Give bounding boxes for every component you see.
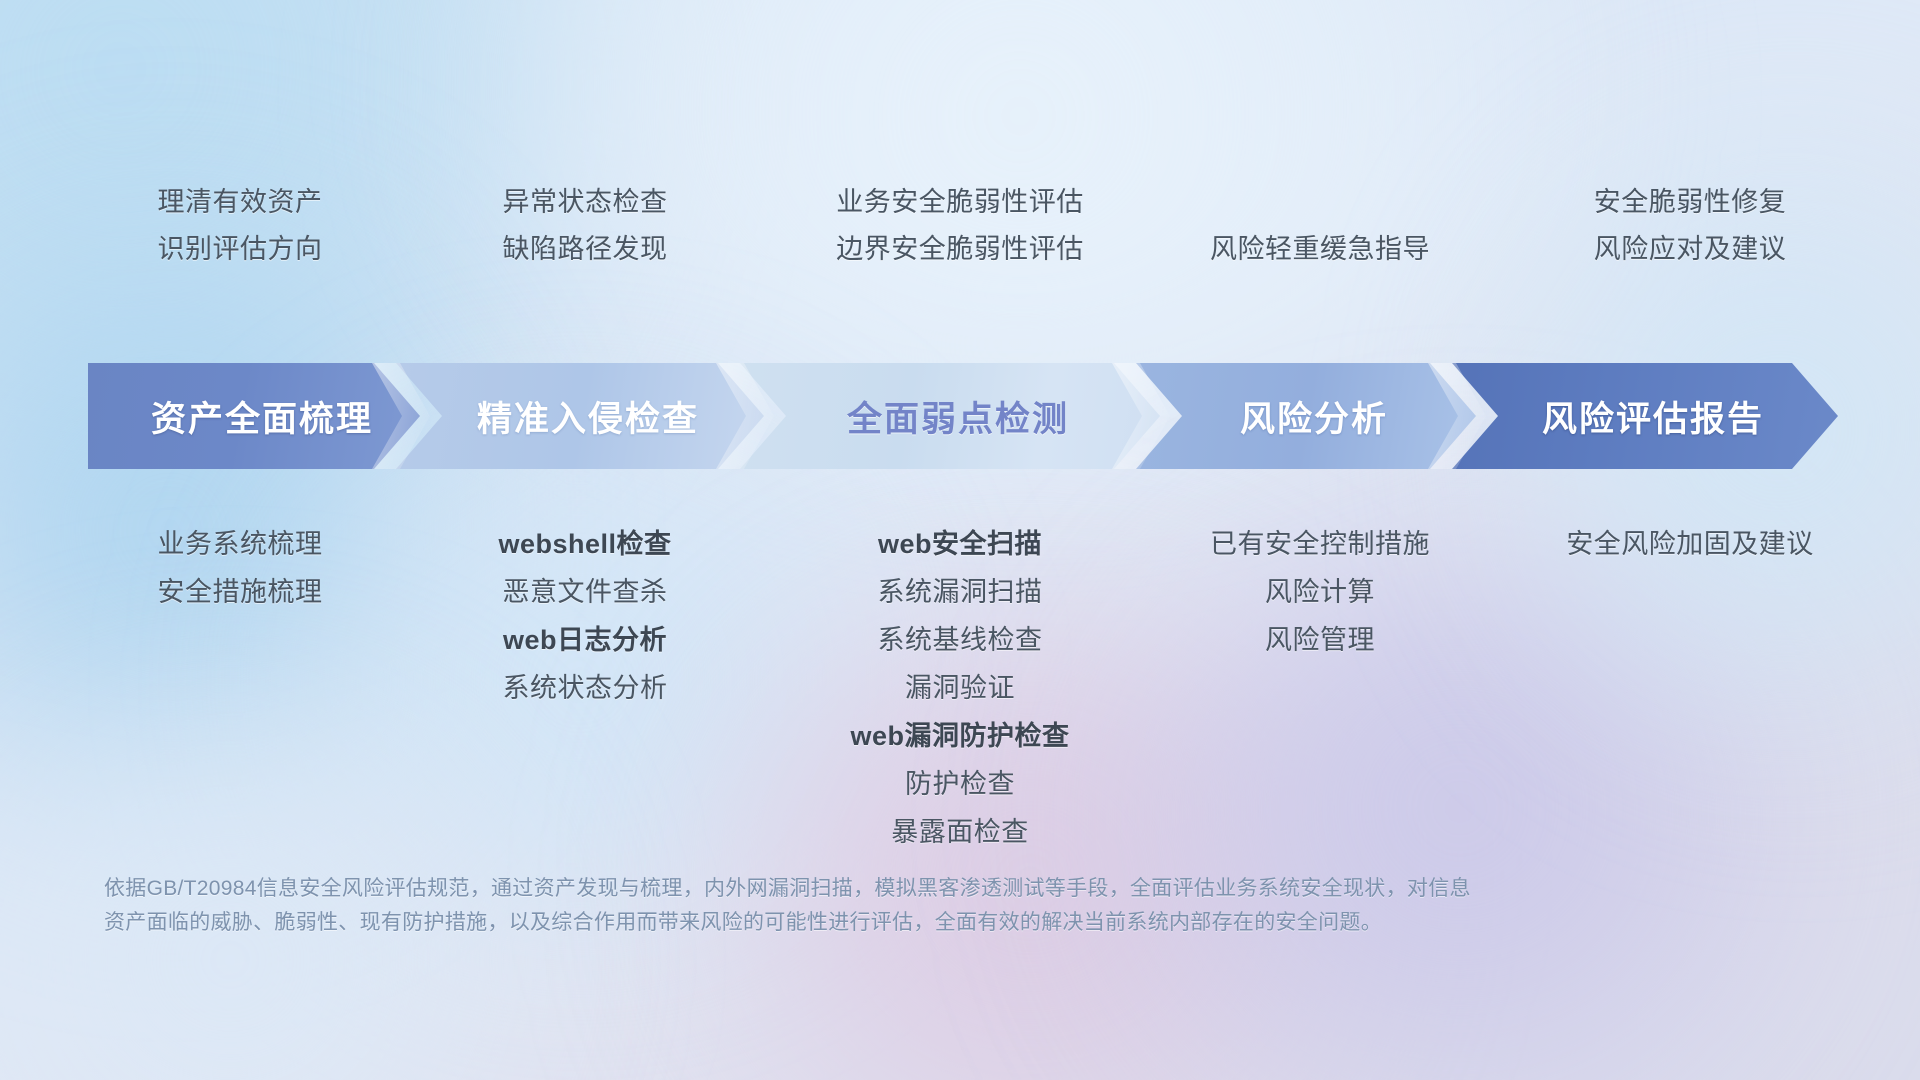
bottom-detail-item: web日志分析 <box>395 616 775 664</box>
bottom-detail-item: webshell检查 <box>395 520 775 568</box>
top-detail-row: 理清有效资产 识别评估方向 异常状态检查 缺陷路径发现 业务安全脆弱性评估 边界… <box>0 0 1920 360</box>
top-detail-item: 识别评估方向 <box>30 226 450 272</box>
bottom-detail-item: web安全扫描 <box>740 520 1180 568</box>
top-detail-item: 异常状态检查 <box>395 179 775 225</box>
bottom-detail-item: 系统状态分析 <box>395 664 775 712</box>
bottom-details-stage-3: web安全扫描 系统漏洞扫描 系统基线检查 漏洞验证 web漏洞防护检查 防护检… <box>740 520 1180 856</box>
top-detail-item: 安全脆弱性修复 <box>1490 179 1890 225</box>
process-arrow-band: 资产全面梳理 精准入侵检查 全面弱点检测 风险分析 风险评估报告 <box>0 363 1920 469</box>
top-detail-item: 风险轻重缓急指导 <box>1120 226 1520 272</box>
bottom-detail-item: 风险计算 <box>1120 568 1520 616</box>
bottom-detail-item: web漏洞防护检查 <box>740 712 1180 760</box>
bottom-details-stage-1: 业务系统梳理 安全措施梳理 <box>30 520 450 616</box>
bottom-details-stage-4: 已有安全控制措施 风险计算 风险管理 <box>1120 520 1520 664</box>
bottom-detail-item: 安全风险加固及建议 <box>1490 520 1890 568</box>
top-details-stage-1: 理清有效资产 识别评估方向 <box>30 179 450 272</box>
stage-arrow-label: 精准入侵检查 <box>477 391 699 442</box>
bottom-detail-item: 系统基线检查 <box>740 616 1180 664</box>
bottom-detail-item: 恶意文件查杀 <box>395 568 775 616</box>
stage-arrow-4[interactable]: 风险分析 <box>1136 363 1476 469</box>
bottom-detail-item: 防护检查 <box>740 760 1180 808</box>
stage-arrow-label: 风险评估报告 <box>1542 391 1764 442</box>
bottom-detail-item: 系统漏洞扫描 <box>740 568 1180 616</box>
bottom-detail-item: 漏洞验证 <box>740 664 1180 712</box>
bottom-detail-item: 暴露面检查 <box>740 808 1180 856</box>
stage-arrow-label: 风险分析 <box>1240 391 1388 442</box>
top-detail-item: 缺陷路径发现 <box>395 226 775 272</box>
stage-arrow-5[interactable]: 风险评估报告 <box>1452 363 1838 469</box>
bottom-detail-item: 已有安全控制措施 <box>1120 520 1520 568</box>
top-details-stage-2: 异常状态检查 缺陷路径发现 <box>395 179 775 272</box>
bottom-detail-item: 业务系统梳理 <box>30 520 450 568</box>
footnote-paragraph: 依据GB/T20984信息安全风险评估规范，通过资产发现与梳理，内外网漏洞扫描，… <box>104 872 1764 940</box>
bottom-details-stage-2: webshell检查 恶意文件查杀 web日志分析 系统状态分析 <box>395 520 775 712</box>
footnote-line-2: 资产面临的威胁、脆弱性、现有防护措施，以及综合作用而带来风险的可能性进行评估，全… <box>104 906 1764 940</box>
stage-arrow-1[interactable]: 资产全面梳理 <box>88 363 420 469</box>
footnote-line-1: 依据GB/T20984信息安全风险评估规范，通过资产发现与梳理，内外网漏洞扫描，… <box>104 872 1764 906</box>
bottom-detail-item: 风险管理 <box>1120 616 1520 664</box>
bottom-details-stage-5: 安全风险加固及建议 <box>1490 520 1890 568</box>
top-detail-item: 风险应对及建议 <box>1490 226 1890 272</box>
stage-arrow-3[interactable]: 全面弱点检测 <box>740 363 1160 469</box>
bottom-detail-row: 业务系统梳理 安全措施梳理 webshell检查 恶意文件查杀 web日志分析 … <box>0 486 1920 846</box>
stage-arrow-2[interactable]: 精准入侵检查 <box>396 363 764 469</box>
top-detail-item: 边界安全脆弱性评估 <box>740 226 1180 272</box>
top-details-stage-5: 安全脆弱性修复 风险应对及建议 <box>1490 179 1890 272</box>
stage-arrow-label: 全面弱点检测 <box>847 391 1069 442</box>
stage-arrow-label: 资产全面梳理 <box>151 391 373 442</box>
top-detail-item: 业务安全脆弱性评估 <box>740 179 1180 225</box>
top-detail-item: 理清有效资产 <box>30 179 450 225</box>
bottom-detail-item: 安全措施梳理 <box>30 568 450 616</box>
top-details-stage-3: 业务安全脆弱性评估 边界安全脆弱性评估 <box>740 179 1180 272</box>
top-details-stage-4: 风险轻重缓急指导 <box>1120 226 1520 272</box>
